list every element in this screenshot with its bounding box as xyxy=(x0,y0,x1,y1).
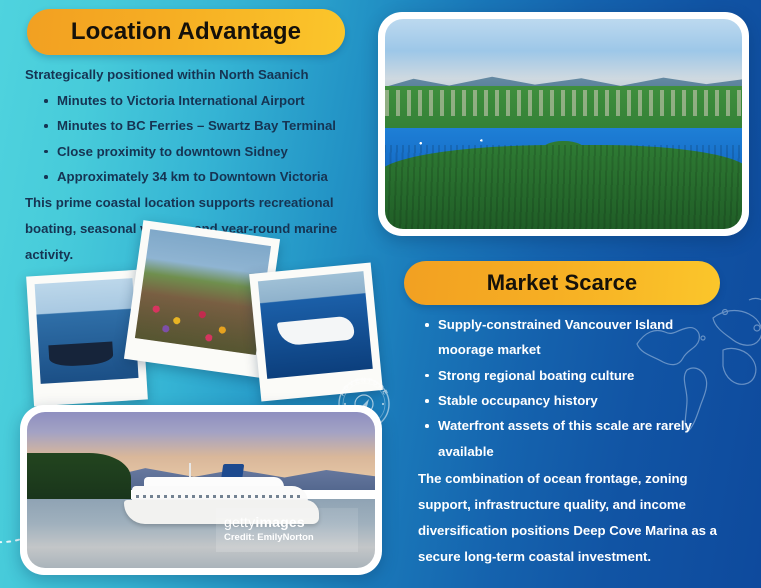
aerial-marina-photo xyxy=(378,12,749,236)
list-item: Stable occupancy history xyxy=(418,388,718,413)
watermark-credit: Credit: EmilyNorton xyxy=(224,531,358,545)
polaroid-photo-yacht xyxy=(249,262,383,401)
location-lead-text: Strategically positioned within North Sa… xyxy=(25,62,355,88)
section-title-market-scarce: Market Scarce xyxy=(404,261,720,305)
getty-images-watermark: gettyimages Credit: EmilyNorton xyxy=(216,508,358,552)
market-closing-text: The combination of ocean frontage, zonin… xyxy=(418,466,728,571)
list-item: Close proximity to downtown Sidney xyxy=(37,139,355,164)
list-item: Minutes to BC Ferries – Swartz Bay Termi… xyxy=(37,113,355,138)
list-item: Minutes to Victoria International Airpor… xyxy=(37,88,355,113)
list-item: Approximately 34 km to Downtown Victoria xyxy=(37,164,355,189)
watermark-brand-bold: images xyxy=(255,514,304,530)
list-item: Supply-constrained Vancouver Island moor… xyxy=(418,312,718,363)
section-title-location-advantage: Location Advantage xyxy=(27,9,345,55)
list-item: Strong regional boating culture xyxy=(418,363,718,388)
market-scarce-text-block: Supply-constrained Vancouver Island moor… xyxy=(418,312,728,571)
watermark-brand-light: getty xyxy=(224,514,255,530)
infographic-poster: Location Advantage Strategically positio… xyxy=(0,0,761,588)
market-bullet-list: Supply-constrained Vancouver Island moor… xyxy=(418,312,718,464)
location-bullet-list: Minutes to Victoria International Airpor… xyxy=(37,88,355,189)
list-item: Waterfront assets of this scale are rare… xyxy=(418,413,718,464)
watermark-brand: gettyimages xyxy=(224,515,358,530)
